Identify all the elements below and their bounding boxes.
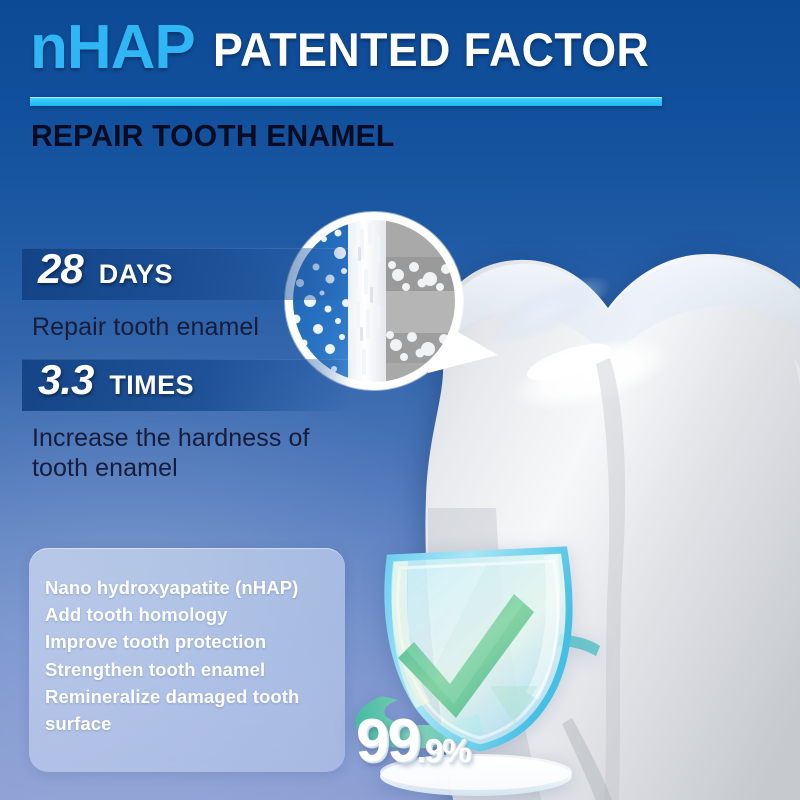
brand-name: nHAP [30,19,195,76]
list-item: Remineralize damaged tooth surface [45,683,329,737]
protection-shield-with-checkmark [338,536,608,800]
stat-description-times: Increase the hardness of tooth enamel [22,411,352,484]
stat-description-days: Repair tooth enamel [22,300,352,343]
list-item: Strengthen tooth enamel [45,656,329,683]
title-underline-divider [30,97,662,106]
benefits-panel: Nano hydroxyapatite (nHAP) Add tooth hom… [29,548,345,772]
list-item: Improve tooth protection [45,628,329,655]
stat-band-days: 28 DAYS [22,248,352,300]
subtitle: REPAIR TOOTH ENAMEL [31,118,394,154]
stat-unit-times: TIMES [109,370,194,401]
stat-value-days: 28 [38,248,83,290]
benefits-list: Nano hydroxyapatite (nHAP) Add tooth hom… [45,574,329,737]
list-item: Add tooth homology [45,601,329,628]
stats-group: 28 DAYS Repair tooth enamel 3.3 TIMES In… [22,248,352,484]
list-item: Nano hydroxyapatite (nHAP) [45,574,329,601]
product-infographic-poster: nHAP PATENTED FACTOR REPAIR TOOTH ENAMEL… [0,0,800,800]
poster-header: nHAP PATENTED FACTOR REPAIR TOOTH ENAMEL [0,0,800,76]
page-title: PATENTED FACTOR [213,26,649,73]
stat-value-times: 3.3 [38,359,93,401]
stat-unit-days: DAYS [99,259,173,290]
title-row: nHAP PATENTED FACTOR [0,0,800,76]
stat-band-times: 3.3 TIMES [22,359,352,411]
